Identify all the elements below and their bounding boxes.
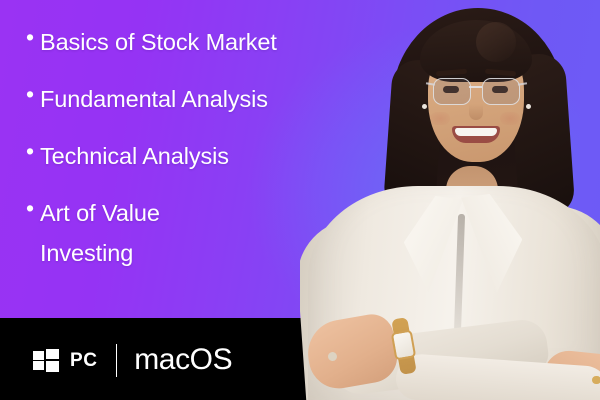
bullet-point-icon: • bbox=[26, 136, 40, 167]
earring-left bbox=[422, 104, 427, 109]
eyeglass-lens-left bbox=[433, 78, 471, 105]
cheek-right bbox=[500, 112, 520, 125]
cheek-left bbox=[430, 112, 450, 125]
smile bbox=[452, 126, 500, 143]
windows-pane-top-right bbox=[46, 349, 59, 360]
windows-pane-top-left bbox=[33, 351, 44, 360]
teeth bbox=[455, 128, 497, 136]
macos-label: macOS bbox=[134, 345, 232, 375]
badge-divider bbox=[116, 344, 118, 377]
bullet-point-icon: • bbox=[26, 22, 40, 53]
hair-parting bbox=[476, 22, 516, 62]
earring-right bbox=[526, 104, 531, 109]
eyeglass-bridge bbox=[469, 86, 482, 88]
topic-label-basics-of-stock-market: Basics of Stock Market bbox=[40, 22, 277, 62]
topic-label-fundamental-analysis: Fundamental Analysis bbox=[40, 79, 268, 119]
bullet-point-icon: • bbox=[26, 79, 40, 110]
eyeglass-lens-right bbox=[482, 78, 520, 105]
presenter-photo bbox=[300, 0, 600, 400]
ring-right bbox=[592, 376, 600, 384]
pc-label: PC bbox=[70, 351, 98, 370]
promo-slide: • Basics of Stock Market • Fundamental A… bbox=[0, 0, 600, 400]
bullet-point-icon: • bbox=[26, 193, 40, 224]
platform-badges: PC macOS bbox=[33, 341, 232, 379]
topic-label-art-of-value-investing: Art of Value Investing bbox=[40, 193, 160, 273]
nose bbox=[469, 100, 483, 120]
windows-pane-bottom-right bbox=[46, 361, 59, 372]
topic-label-technical-analysis: Technical Analysis bbox=[40, 136, 229, 176]
windows-pane-bottom-left bbox=[33, 361, 44, 370]
windows-logo-icon bbox=[33, 348, 59, 372]
